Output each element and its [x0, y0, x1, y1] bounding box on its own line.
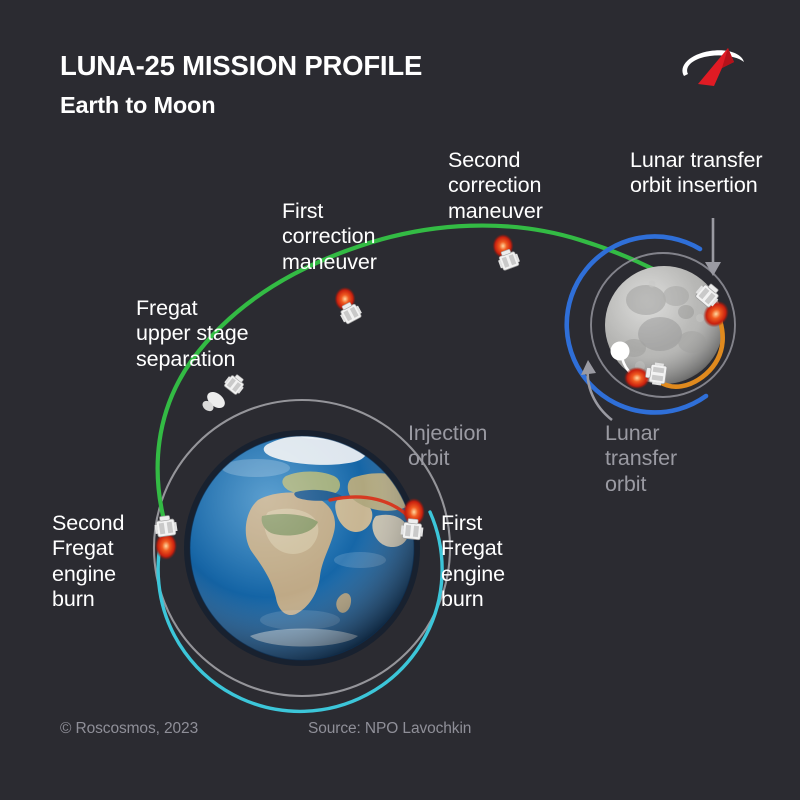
roscosmos-logo: [676, 42, 748, 94]
source-text: Source: NPO Lavochkin: [308, 720, 471, 738]
label-first-fregat-engine-burn: First Fregat engine burn: [441, 511, 505, 612]
label-injection-orbit: Injection orbit: [408, 421, 487, 472]
spacecraft-first-correction: [335, 287, 364, 325]
page-subtitle: Earth to Moon: [60, 92, 215, 120]
label-second-correction-maneuver: Second correction maneuver: [448, 148, 543, 224]
page-title: LUNA-25 MISSION PROFILE: [60, 50, 422, 82]
copyright-text: © Roscosmos, 2023: [60, 720, 198, 738]
mission-profile-infographic: Second correction maneuver Lunar transfe…: [0, 0, 800, 800]
label-lunar-transfer-orbit: Lunar transfer orbit: [605, 421, 677, 497]
spacecraft-fregat-separation: [201, 371, 248, 413]
label-first-correction-maneuver: First correction maneuver: [282, 199, 377, 275]
mission-diagram: [0, 0, 800, 800]
landing-site-marker: [611, 342, 630, 361]
earth: [184, 426, 420, 666]
label-lunar-transfer-orbit-insertion: Lunar transfer orbit insertion: [630, 148, 762, 199]
spacecraft-second-fregat-burn: [153, 515, 178, 560]
spacecraft-second-correction: [493, 234, 522, 271]
label-fregat-upper-stage-separation: Fregat upper stage separation: [136, 296, 248, 372]
label-second-fregat-engine-burn: Second Fregat engine burn: [52, 511, 124, 612]
